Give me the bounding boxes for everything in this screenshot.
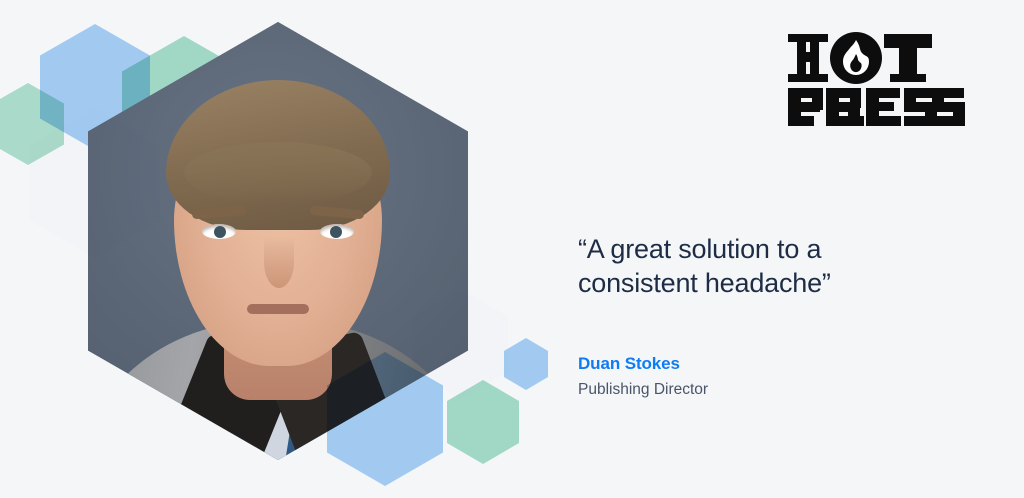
portrait-mouth bbox=[247, 304, 309, 314]
hot-press-logo bbox=[786, 28, 966, 128]
author-name: Duan Stokes bbox=[578, 354, 680, 374]
portrait-pupil-right bbox=[330, 226, 342, 238]
quote-text: “A great solution to a consistent headac… bbox=[578, 232, 908, 300]
portrait-nose bbox=[264, 236, 294, 288]
portrait-pupil-left bbox=[214, 226, 226, 238]
decorative-hexagon-blue-small-right bbox=[504, 338, 548, 390]
testimonial-banner: “A great solution to a consistent headac… bbox=[0, 0, 1024, 498]
author-role: Publishing Director bbox=[578, 381, 708, 399]
